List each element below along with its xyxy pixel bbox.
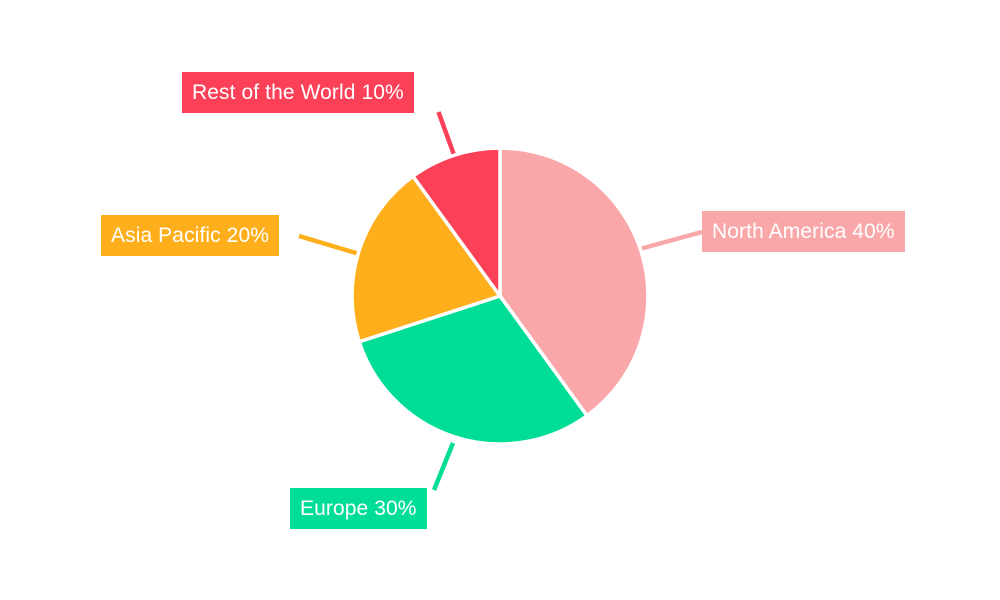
pie-label-north-america: North America 40% (702, 211, 905, 252)
pie-chart-figure: North America 40% Europe 30% Asia Pacifi… (0, 0, 1000, 600)
pie-label-europe: Europe 30% (290, 488, 427, 529)
pie-label-text: Asia Pacific 20% (111, 225, 269, 246)
pie-label-text: Europe 30% (300, 498, 417, 519)
pie-label-asia-pacific: Asia Pacific 20% (101, 215, 279, 256)
pie-label-rest-of-world: Rest of the World 10% (182, 72, 414, 113)
pie-chart-canvas (0, 0, 1000, 600)
pie-label-text: North America 40% (712, 221, 895, 242)
pie-wedges (352, 148, 648, 444)
pie-label-text: Rest of the World 10% (192, 82, 404, 103)
